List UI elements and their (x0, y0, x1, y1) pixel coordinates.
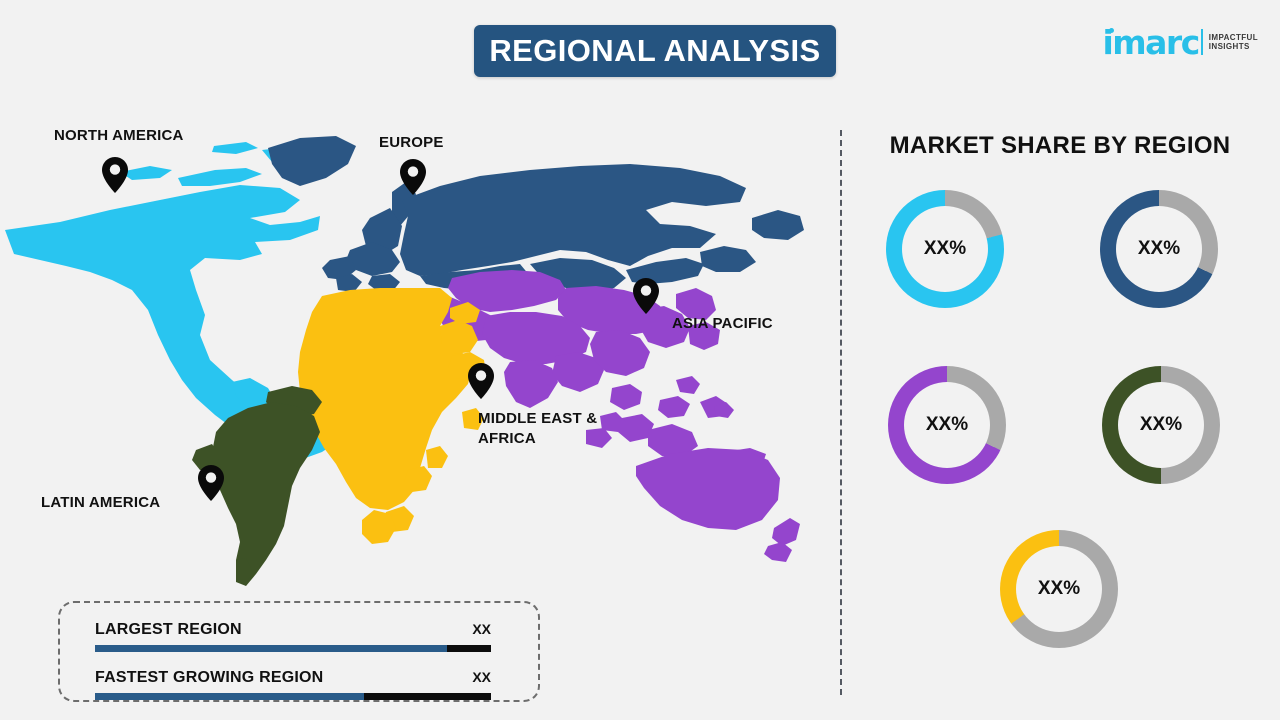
region-label-north-america: NORTH AMERICA (54, 126, 184, 146)
legend-row-fastest-growing-region: FASTEST GROWING REGION XX (95, 669, 491, 700)
map-region-middle-east-africa (298, 288, 486, 544)
world-map (0, 130, 830, 600)
logo-tagline-line1: IMPACTFUL (1209, 33, 1258, 42)
legend-bar-track (95, 645, 491, 652)
donut-chart-latin-america: XX% (1102, 366, 1220, 484)
donut-chart-middle-east-africa: XX% (1000, 530, 1118, 648)
vertical-divider (840, 130, 842, 695)
region-label-asia-pacific: ASIA PACIFIC (672, 314, 773, 334)
legend-bar-fill (95, 645, 447, 652)
region-label-middle-east-africa: MIDDLE EAST & AFRICA (478, 409, 597, 450)
page-title-banner: REGIONAL ANALYSIS (474, 25, 836, 77)
donut-center: XX% (1116, 206, 1202, 292)
donut-chart-europe: XX% (1100, 190, 1218, 308)
donut-value: XX% (1038, 578, 1080, 600)
map-pin-icon-europe (400, 159, 426, 195)
logo-tagline-line2: INSIGHTS (1209, 42, 1258, 51)
legend-box: LARGEST REGION XX FASTEST GROWING REGION… (58, 601, 540, 702)
donut-chart-asia-pacific: XX% (888, 366, 1006, 484)
donut-center: XX% (1118, 382, 1204, 468)
logo-wordmark: imarc (1102, 23, 1198, 62)
legend-label: FASTEST GROWING REGION (95, 669, 323, 687)
donut-center: XX% (1016, 546, 1102, 632)
donut-value: XX% (1140, 414, 1182, 436)
legend-bar-fill (95, 693, 364, 700)
donut-value: XX% (1138, 238, 1180, 260)
infographic-page: REGIONAL ANALYSIS imarc IMPACTFUL INSIGH… (0, 0, 1280, 720)
page-title: REGIONAL ANALYSIS (489, 33, 820, 69)
legend-bar-track (95, 693, 491, 700)
map-pin-icon-latin-america (198, 465, 224, 501)
logo-divider (1201, 29, 1203, 55)
panel-title: MARKET SHARE BY REGION (840, 132, 1280, 160)
region-label-latin-america: LATIN AMERICA (41, 493, 160, 513)
map-pin-icon-asia-pacific (633, 278, 659, 314)
donut-chart-north-america: XX% (886, 190, 1004, 308)
region-label-europe: EUROPE (379, 133, 444, 153)
donut-center: XX% (904, 382, 990, 468)
donut-value: XX% (926, 414, 968, 436)
legend-value: XX (472, 621, 491, 637)
imarc-logo: imarc IMPACTFUL INSIGHTS (1102, 22, 1258, 62)
map-pin-icon-middle-east-africa (468, 363, 494, 399)
legend-label: LARGEST REGION (95, 621, 242, 639)
donut-center: XX% (902, 206, 988, 292)
legend-value: XX (472, 669, 491, 685)
logo-tagline: IMPACTFUL INSIGHTS (1209, 33, 1258, 52)
donut-value: XX% (924, 238, 966, 260)
map-pin-icon-north-america (102, 157, 128, 193)
legend-row-largest-region: LARGEST REGION XX (95, 621, 491, 652)
